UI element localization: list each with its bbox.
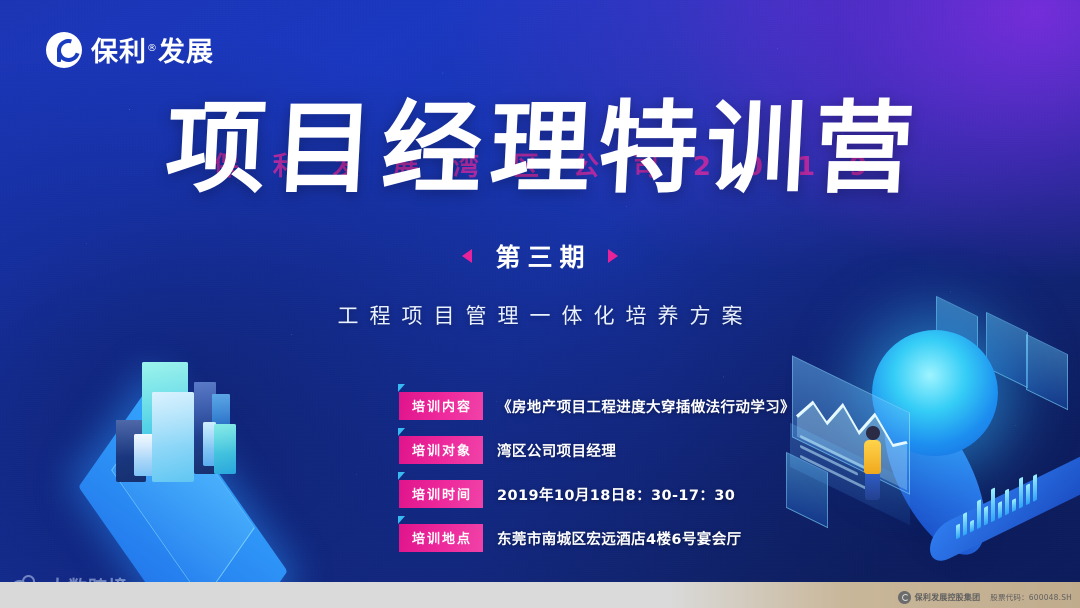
info-row-badge: 培训地点	[399, 524, 483, 552]
brand-logo: 保利®发展	[46, 30, 214, 69]
isometric-city-illustration	[62, 336, 362, 541]
issue-line: 第三期	[0, 238, 1080, 274]
brand-logo-text: 保利®发展	[91, 30, 214, 69]
triangle-right-icon	[608, 249, 618, 263]
badge-flag-icon	[398, 516, 412, 524]
brand-name: 保利	[91, 37, 147, 68]
info-row: 培训地点 东莞市南城区宏远酒店4楼6号宴会厅	[399, 524, 795, 552]
info-row-value: 《房地产项目工程进度大穿插做法行动学习》	[497, 396, 795, 417]
info-row-badge: 培训内容	[399, 392, 483, 420]
brand-suffix: 发展	[158, 37, 214, 68]
info-row: 培训对象 湾区公司项目经理	[399, 436, 795, 464]
footer-logo: 保利发展控股集团	[898, 591, 981, 604]
badge-flag-icon	[398, 428, 412, 436]
poly-logo-icon	[46, 32, 82, 68]
subtitle: 工程项目管理一体化培养方案	[0, 300, 1080, 330]
city-building	[134, 434, 154, 476]
city-building	[214, 424, 236, 474]
badge-flag-icon	[398, 472, 412, 480]
person-legs	[865, 472, 880, 500]
footer-stock-code: 股票代码：600048.SH	[990, 592, 1072, 603]
info-row-badge: 培训时间	[399, 480, 483, 508]
person-head	[866, 426, 880, 440]
server-rack	[1026, 334, 1068, 410]
poster-root: 保利®发展 保利发展湾区公司2019 项目经理特训营 第三期 工程项目管理一体化…	[0, 0, 1080, 608]
info-row-value: 2019年10月18日8：30-17：30	[497, 484, 735, 505]
info-list: 培训内容 《房地产项目工程进度大穿插做法行动学习》 培训对象 湾区公司项目经理 …	[399, 392, 795, 552]
info-row: 培训时间 2019年10月18日8：30-17：30	[399, 480, 795, 508]
page-title: 项目经理特训营	[0, 96, 1080, 202]
footer-poly-logo-icon	[898, 591, 911, 604]
city-building	[152, 392, 194, 482]
info-row-value: 东莞市南城区宏远酒店4楼6号宴会厅	[497, 528, 741, 549]
info-row: 培训内容 《房地产项目工程进度大穿插做法行动学习》	[399, 392, 795, 420]
info-row-label: 培训地点	[412, 532, 472, 547]
triangle-left-icon	[462, 249, 472, 263]
info-row-label: 培训对象	[412, 444, 472, 459]
person-body	[864, 440, 881, 474]
footer-right-group: 保利发展控股集团 股票代码：600048.SH	[898, 591, 1072, 604]
info-row-label: 培训时间	[412, 488, 472, 503]
registered-trademark-icon: ®	[147, 43, 158, 54]
footer-company-name: 保利发展控股集团	[915, 592, 981, 603]
info-row-label: 培训内容	[412, 400, 472, 415]
badge-flag-icon	[398, 384, 412, 392]
info-row-badge: 培训对象	[399, 436, 483, 464]
info-row-value: 湾区公司项目经理	[497, 440, 616, 461]
data-tech-illustration	[780, 300, 1080, 560]
issue-label: 第三期	[488, 238, 591, 274]
